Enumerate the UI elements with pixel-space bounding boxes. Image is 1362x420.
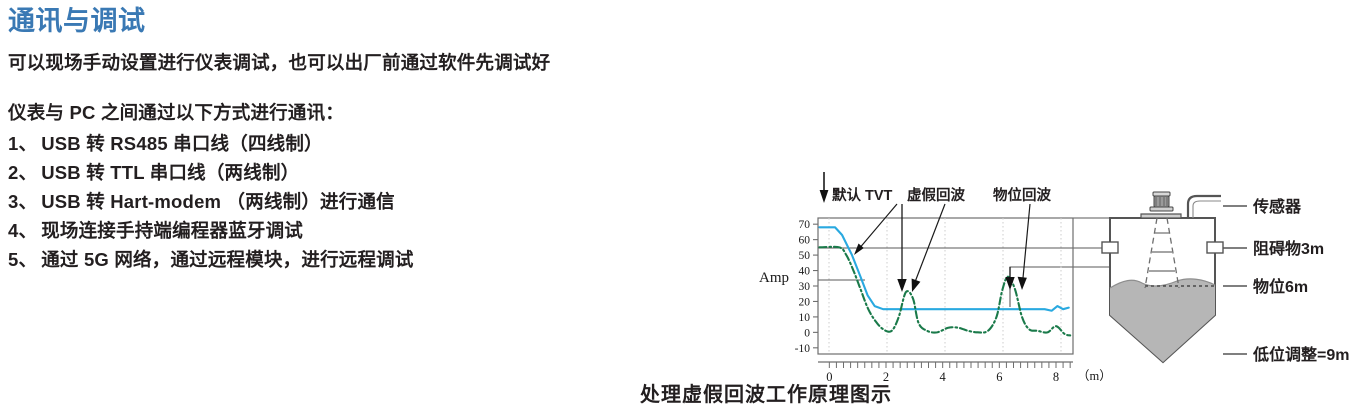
- list-item: 1、USB 转 RS485 串口线（四线制）: [8, 129, 728, 158]
- y-tick-label: 10: [799, 312, 811, 324]
- intro-paragraph: 仪表与 PC 之间通过以下方式进行通讯：: [8, 101, 728, 125]
- y-tick-label: 20: [799, 296, 811, 308]
- level-echo-arrow-b-icon: [1018, 204, 1030, 290]
- chart-y-axis: -10010203040506070: [795, 219, 818, 355]
- list-item: 2、USB 转 TTL 串口线（两线制）: [8, 158, 728, 187]
- y-tick-label: 0: [804, 327, 810, 339]
- callout-label-low-adjust: 低位调整=9m: [1252, 345, 1349, 364]
- y-tick-label: 70: [799, 219, 811, 231]
- list-item-label: USB 转 Hart-modem （两线制）进行通信: [41, 187, 395, 216]
- sensor-cable-inner: [1193, 201, 1221, 218]
- list-item-number: 2、: [8, 158, 37, 187]
- text-column: 通讯与调试 可以现场手动设置进行仪表调试，也可以出厂前通过软件先调试好 仪表与 …: [8, 6, 728, 275]
- page-title: 通讯与调试: [8, 6, 728, 37]
- tvt-curve: [819, 227, 1068, 310]
- lead-paragraph: 可以现场手动设置进行仪表调试，也可以出厂前通过软件先调试好: [8, 51, 728, 75]
- y-tick-label: 30: [799, 281, 811, 293]
- radar-sensor-icon: [1150, 192, 1173, 211]
- annotation-tvt-label: 默认 TVT: [832, 186, 893, 204]
- y-tick-label: 40: [799, 266, 811, 278]
- callout-label-sensor: 传感器: [1252, 197, 1302, 216]
- annotation-false-echo-label: 虚假回波: [907, 186, 965, 204]
- list-item: 3、USB 转 Hart-modem （两线制）进行通信: [8, 187, 728, 216]
- y-tick-label: 50: [799, 250, 811, 262]
- list-item-label: USB 转 RS485 串口线（四线制）: [41, 129, 323, 158]
- list-item: 4、现场连接手持端编程器蓝牙调试: [8, 216, 728, 245]
- callout-label-level: 物位6m: [1253, 277, 1308, 296]
- y-tick-label: -10: [795, 343, 811, 355]
- y-tick-label: 60: [799, 235, 811, 247]
- list-item-label: 现场连接手持端编程器蓝牙调试: [41, 216, 303, 245]
- obstruction-right-icon: [1207, 242, 1223, 253]
- figure-panel: -10010203040506070 02468 Amp （m）: [745, 100, 1362, 420]
- list-item-number: 1、: [8, 129, 37, 158]
- echo-diagram-svg: -10010203040506070 02468 Amp （m）: [745, 100, 1362, 400]
- tank-flange: [1141, 214, 1181, 218]
- echo-chart: -10010203040506070 02468 Amp （m）: [759, 218, 1112, 384]
- list-item-label: 通过 5G 网络，通过远程模块，进行远程调试: [41, 245, 413, 274]
- tank-callouts: 传感器 阻碍物3m 物位6m 低位调整=9m: [1223, 197, 1349, 364]
- annotation-tvt-arrow-icon: [854, 204, 897, 255]
- method-list: 1、USB 转 RS485 串口线（四线制） 2、USB 转 TTL 串口线（两…: [8, 129, 728, 275]
- tank-product-fill: [1110, 279, 1215, 362]
- list-item-label: USB 转 TTL 串口线（两线制）: [41, 158, 299, 187]
- annotation-level-echo-label: 物位回波: [993, 186, 1051, 204]
- list-item-number: 5、: [8, 245, 37, 274]
- chart-ylabel: Amp: [759, 270, 789, 286]
- list-item-number: 4、: [8, 216, 37, 245]
- figure-caption: 处理虚假回波工作原理图示: [640, 378, 892, 407]
- obstruction-left-icon: [1102, 242, 1118, 253]
- slide-root: 通讯与调试 可以现场手动设置进行仪表调试，也可以出厂前通过软件先调试好 仪表与 …: [0, 0, 1362, 420]
- figure-caption-row: 处理虚假回波工作原理图示: [0, 378, 1362, 407]
- list-item-number: 3、: [8, 187, 37, 216]
- list-item: 5、通过 5G 网络，通过远程模块，进行远程调试: [8, 245, 728, 274]
- callout-label-obstruction: 阻碍物3m: [1253, 239, 1324, 258]
- tank-diagram: [1102, 192, 1223, 362]
- tvt-start-arrow-icon: [820, 172, 829, 203]
